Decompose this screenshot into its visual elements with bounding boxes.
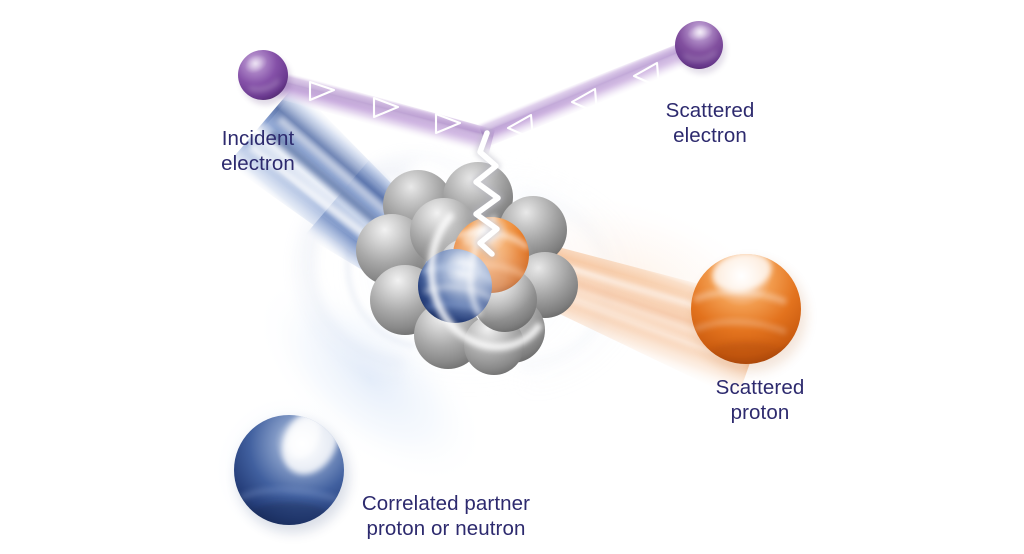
label-incident-electron: Incident electron (196, 126, 320, 176)
label-correlated-partner: Correlated partner proton or neutron (336, 491, 556, 541)
label-scattered-proton: Scattered proton (690, 375, 830, 425)
scattering-diagram (0, 0, 1024, 554)
incident-electron-sphere (238, 50, 291, 105)
figure-canvas: Incident electron Scattered electron Sca… (0, 0, 1024, 554)
label-scattered-electron: Scattered electron (640, 98, 780, 148)
